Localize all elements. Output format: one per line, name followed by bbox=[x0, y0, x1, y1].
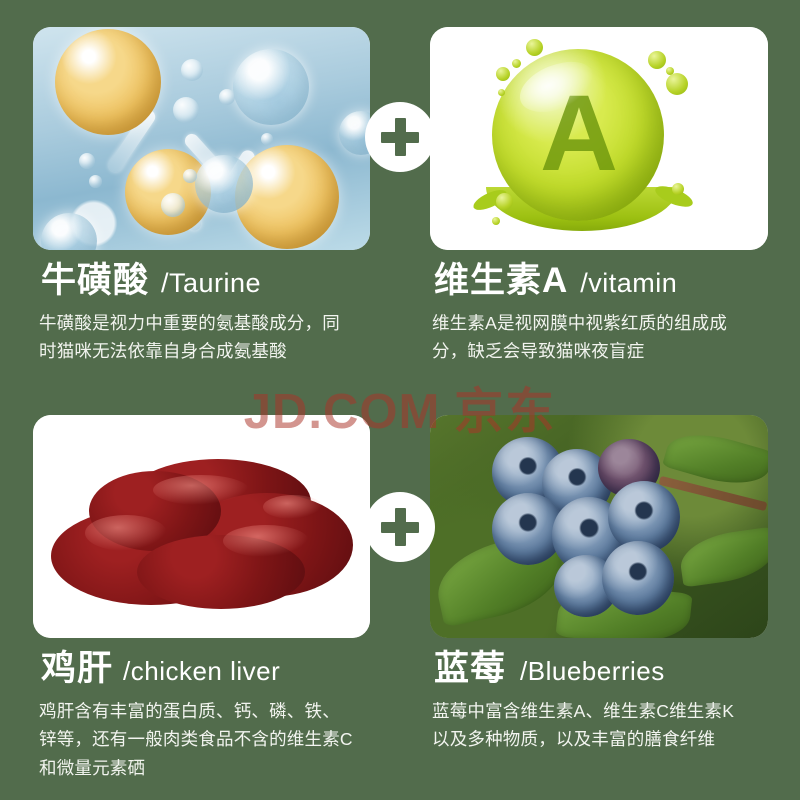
molecule-illustration bbox=[33, 27, 370, 250]
chicken-liver-title: 鸡肝 /chicken liver bbox=[33, 651, 370, 686]
vitamin-a-photo: A bbox=[430, 27, 768, 250]
vitamin-a-title-en: /vitamin bbox=[580, 270, 677, 297]
blueberries-title-cn: 蓝莓 bbox=[434, 651, 506, 686]
ingredient-card-vitamin-a[interactable]: A 维生素A /vitamin bbox=[400, 0, 800, 388]
taurine-title: 牛磺酸 /Taurine bbox=[33, 263, 370, 298]
plus-separator-bottom-icon bbox=[365, 492, 435, 562]
blueberries-photo bbox=[430, 415, 768, 638]
chicken-liver-title-cn: 鸡肝 bbox=[41, 651, 113, 686]
chicken-liver-description: 鸡肝含有丰富的蛋白质、钙、磷、铁、锌等，还有一般肉类食品不含的维生素C和微量元素… bbox=[33, 697, 357, 782]
taurine-description: 牛磺酸是视力中重要的氨基酸成分，同时猫咪无法依靠自身合成氨基酸 bbox=[33, 309, 357, 366]
chicken-liver-title-en: /chicken liver bbox=[123, 658, 280, 684]
ingredient-infographic: 牛磺酸 /Taurine 牛磺酸是视力中重要的氨基酸成分，同时猫咪无法依靠自身合… bbox=[0, 0, 800, 800]
vitamin-capsule-illustration: A bbox=[430, 27, 768, 250]
taurine-title-cn: 牛磺酸 bbox=[41, 263, 149, 298]
capsule-sphere: A bbox=[492, 49, 664, 221]
plus-bar-vertical bbox=[395, 508, 406, 546]
blueberries-title: 蓝莓 /Blueberries bbox=[430, 651, 768, 686]
ingredient-card-blueberries[interactable]: 蓝莓 /Blueberries 蓝莓中富含维生素A、维生素C维生素K以及多种物质… bbox=[400, 388, 800, 776]
blueberries-title-en: /Blueberries bbox=[520, 658, 665, 684]
liver-illustration bbox=[33, 415, 370, 638]
ingredient-card-taurine[interactable]: 牛磺酸 /Taurine 牛磺酸是视力中重要的氨基酸成分，同时猫咪无法依靠自身合… bbox=[0, 0, 400, 388]
taurine-photo bbox=[33, 27, 370, 250]
vitamin-a-title-cn: 维生素A bbox=[434, 263, 568, 298]
plus-bar-vertical bbox=[395, 118, 406, 156]
vitamin-a-title: 维生素A /vitamin bbox=[430, 263, 768, 298]
ingredient-card-chicken-liver[interactable]: 鸡肝 /chicken liver 鸡肝含有丰富的蛋白质、钙、磷、铁、锌等，还有… bbox=[0, 388, 400, 776]
taurine-title-en: /Taurine bbox=[161, 270, 261, 297]
plus-separator-top-icon bbox=[365, 102, 435, 172]
blueberry-illustration bbox=[430, 415, 768, 638]
vitamin-a-description: 维生素A是视网膜中视紫红质的组成成分，缺乏会导致猫咪夜盲症 bbox=[430, 309, 746, 366]
chicken-liver-photo bbox=[33, 415, 370, 638]
blueberries-description: 蓝莓中富含维生素A、维生素C维生素K以及多种物质，以及丰富的膳食纤维 bbox=[430, 697, 750, 754]
